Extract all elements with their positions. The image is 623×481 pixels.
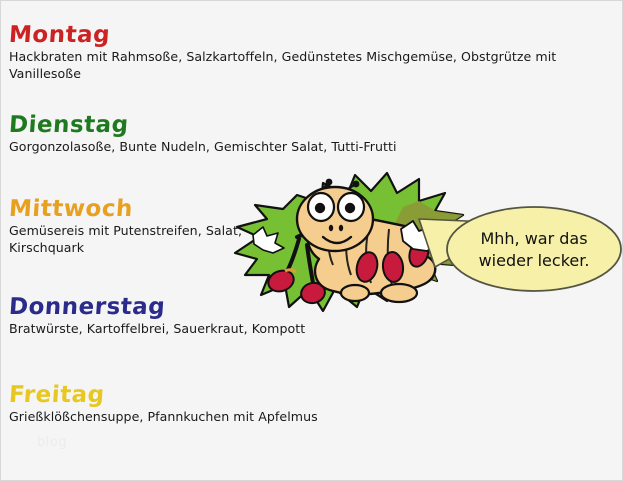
day-block-montag: Montag Hackbraten mit Rahmsoße, Salzkart…: [9, 23, 623, 83]
day-description-donnerstag: Bratwürste, Kartoffelbrei, Sauerkraut, K…: [9, 321, 305, 338]
day-block-donnerstag: Donnerstag Bratwürste, Kartoffelbrei, Sa…: [9, 295, 305, 338]
day-heading-donnerstag: Donnerstag: [8, 295, 306, 319]
menu-poster: Mhh, war das wieder lecker. Montag Hackb…: [0, 0, 623, 481]
day-heading-montag: Montag: [8, 23, 623, 47]
day-description-dienstag: Gorgonzolasoße, Bunte Nudeln, Gemischter…: [9, 139, 397, 156]
day-block-freitag: Freitag Grießklößchensuppe, Pfannkuchen …: [9, 383, 318, 426]
day-description-montag: Hackbraten mit Rahmsoße, Salzkartoffeln,…: [9, 49, 623, 82]
day-description-mittwoch: Gemüsereis mit Putenstreifen, Salat, Kir…: [9, 223, 245, 256]
day-block-dienstag: Dienstag Gorgonzolasoße, Bunte Nudeln, G…: [9, 113, 397, 156]
day-block-mittwoch: Mittwoch Gemüsereis mit Putenstreifen, S…: [9, 197, 245, 257]
weekly-menu-list: Montag Hackbraten mit Rahmsoße, Salzkart…: [1, 1, 623, 481]
day-heading-freitag: Freitag: [8, 383, 318, 407]
day-heading-mittwoch: Mittwoch: [8, 197, 246, 221]
day-description-freitag: Grießklößchensuppe, Pfannkuchen mit Apfe…: [9, 409, 318, 426]
day-heading-dienstag: Dienstag: [8, 113, 397, 137]
